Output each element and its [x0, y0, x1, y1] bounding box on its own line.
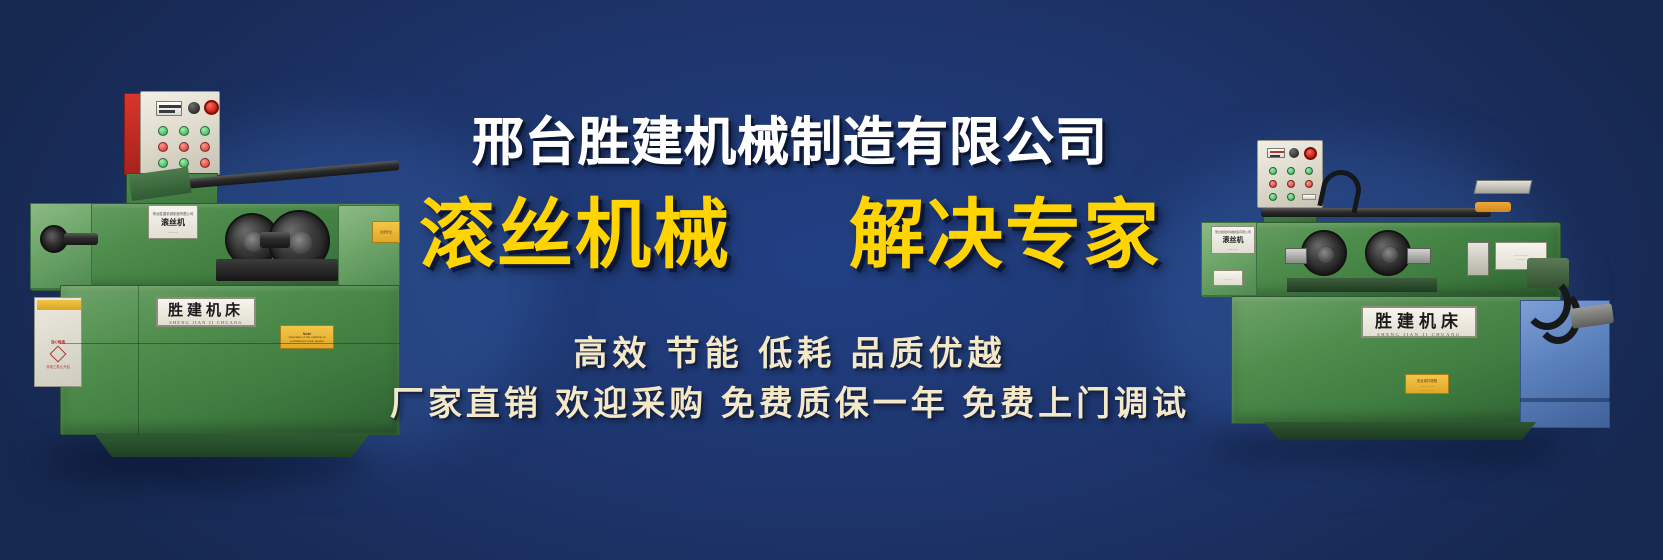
- panel-indicator[interactable]: [1269, 167, 1277, 175]
- machine-foot-right: [1255, 422, 1545, 440]
- spec-plate-right: 邢台胜建机械制造有限公司 滚丝机 ___ ___: [1211, 226, 1255, 254]
- machine-foot-left: [82, 433, 382, 457]
- panel-indicator[interactable]: [1305, 180, 1313, 188]
- emergency-stop-button-left[interactable]: [204, 100, 219, 115]
- roller-die-head-right-2: [1365, 230, 1411, 276]
- panel-indicator[interactable]: [1287, 193, 1295, 201]
- panel-indicator[interactable]: [158, 142, 168, 152]
- control-panel-left: [140, 91, 220, 175]
- panel-display-right: [1267, 148, 1285, 158]
- promo-banner: 邢台胜建机械制造有限公司 滚丝机 ___ ___ 注意安全 当心触电 非: [0, 0, 1663, 560]
- panel-indicator[interactable]: [1287, 180, 1295, 188]
- panel-seam: [60, 343, 400, 344]
- roller-die-head-right-1: [1301, 230, 1347, 276]
- tool-slide-right-1: [1285, 248, 1307, 264]
- panel-indicator[interactable]: [200, 126, 210, 136]
- warning-label-right: 安全操作规程 ＿＿＿＿＿＿ ＿＿＿＿＿: [1405, 374, 1449, 394]
- hydraulic-unit-seam: [1520, 398, 1610, 402]
- control-cable-right: [1317, 166, 1364, 213]
- brand-nameplate-right: 胜建机床 SHENG JIAN JI CHUANG: [1361, 306, 1477, 338]
- left-spindle-shaft: [64, 233, 98, 245]
- small-plate-right: ＿＿＿＿: [1213, 270, 1243, 286]
- panel-indicator[interactable]: [158, 126, 168, 136]
- brand-nameplate-left: 胜建机床 SHENG JIAN JI CHUANG: [156, 297, 256, 327]
- panel-knob-right[interactable]: [1289, 148, 1299, 158]
- panel-indicator[interactable]: [200, 142, 210, 152]
- banner-text-block: 邢台胜建机械制造有限公司 滚丝机械 解决专家 高效 节能 低耗 品质优越 厂家直…: [380, 0, 1200, 560]
- spec-plate-left: 邢台胜建机械制造有限公司 滚丝机 ___ ___: [148, 205, 198, 239]
- panel-seam: [138, 285, 139, 435]
- lubrication-gauge-right: [1467, 242, 1489, 276]
- panel-indicator[interactable]: [200, 158, 210, 168]
- panel-indicator[interactable]: [179, 142, 189, 152]
- panel-indicator[interactable]: [158, 158, 168, 168]
- panel-indicator[interactable]: [1305, 167, 1313, 175]
- machine-photo-left: 邢台胜建机械制造有限公司 滚丝机 ___ ___ 注意安全 当心触电 非: [20, 85, 400, 485]
- top-guide-rail-right: [1261, 208, 1491, 217]
- control-panel-right: [1257, 140, 1323, 208]
- tool-slide-right-2: [1407, 248, 1431, 264]
- headline-left: 滚丝机械: [419, 196, 731, 276]
- terminal-strip-right: [1475, 202, 1511, 212]
- warning-label-left: Note Operation of the machine is prohibi…: [280, 325, 334, 349]
- panel-indicator[interactable]: [1269, 193, 1277, 201]
- subtitle-line-2: 厂家直销 欢迎采购 免费质保一年 免费上门调试: [320, 376, 1260, 425]
- roller-base-left: [216, 259, 338, 281]
- panel-indicator[interactable]: [179, 126, 189, 136]
- emergency-stop-button-right[interactable]: [1304, 147, 1317, 160]
- coupling-shaft-left: [260, 232, 290, 248]
- panel-display-left: [156, 101, 182, 116]
- electrical-box-left: 当心触电 非电工禁止开启: [34, 297, 82, 387]
- headline-row: 滚丝机械 解决专家: [380, 196, 1200, 276]
- feed-tray-right: [1474, 180, 1533, 194]
- subtitle-line-1: 高效 节能 低耗 品质优越: [380, 326, 1200, 375]
- panel-switch-right[interactable]: [1302, 194, 1316, 200]
- company-name: 邢台胜建机械制造有限公司: [380, 100, 1200, 175]
- panel-knob-left[interactable]: [188, 102, 200, 114]
- panel-indicator[interactable]: [1287, 167, 1295, 175]
- roller-base-right: [1287, 278, 1437, 292]
- panel-indicator[interactable]: [1269, 180, 1277, 188]
- headline-right: 解决专家: [849, 196, 1161, 276]
